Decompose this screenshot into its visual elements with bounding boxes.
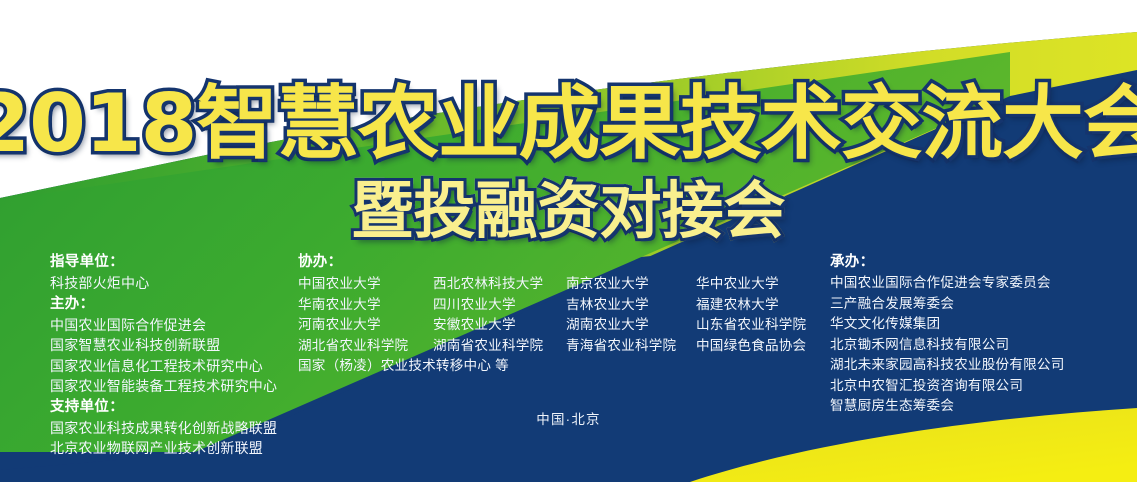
coorganizer-last-line: 国家（杨凌）农业技术转移中心 等 [298, 356, 818, 377]
coorganizer-item: 中国绿色食品协会 [696, 336, 821, 357]
host-unit-header: 主办： [50, 294, 320, 315]
coorganizer-item: 河南农业大学 [298, 315, 433, 336]
coorganizer-grid: 中国农业大学 西北农林科技大学 南京农业大学 华中农业大学 华南农业大学 四川农… [298, 274, 818, 356]
coorganizer-header: 协办： [298, 252, 818, 273]
guidance-unit-item: 科技部火炬中心 [50, 273, 320, 294]
sub-title: 暨投融资对接会 [351, 175, 785, 247]
coorganizer-item: 湖南省农业科学院 [433, 336, 566, 357]
organizer-item: 湖北未来家园高科技农业股份有限公司 [830, 355, 1130, 376]
coorganizer-item: 四川农业大学 [433, 295, 566, 316]
coorganizer-item: 安徽农业大学 [433, 315, 566, 336]
coorganizer-item: 华中农业大学 [696, 274, 821, 295]
organizer-column: 承办： 中国农业国际合作促进会专家委员会 三产融合发展筹委会 华文文化传媒集团 … [830, 252, 1130, 417]
support-unit-item: 北京农业物联网产业技术创新联盟 [50, 438, 320, 459]
coorganizer-item: 吉林农业大学 [566, 295, 696, 316]
organizer-header: 承办： [830, 252, 1130, 273]
coorganizer-item: 福建农林大学 [696, 295, 821, 316]
host-unit-item: 中国农业国际合作促进会 [50, 315, 320, 336]
coorganizer-item: 中国农业大学 [298, 274, 433, 295]
organizer-item: 中国农业国际合作促进会专家委员会 [830, 273, 1130, 294]
coorganizer-item: 湖南农业大学 [566, 315, 696, 336]
organizer-item: 北京中农智汇投资咨询有限公司 [830, 376, 1130, 397]
host-unit-item: 国家农业智能装备工程技术研究中心 [50, 376, 320, 397]
host-unit-item: 国家智慧农业科技创新联盟 [50, 335, 320, 356]
host-unit-item: 国家农业信息化工程技术研究中心 [50, 356, 320, 377]
coorganizer-item: 湖北省农业科学院 [298, 336, 433, 357]
organizer-item: 华文文化传媒集团 [830, 314, 1130, 335]
organizer-item: 三产融合发展筹委会 [830, 294, 1130, 315]
coorganizer-column: 协办： 中国农业大学 西北农林科技大学 南京农业大学 华中农业大学 华南农业大学… [298, 252, 818, 377]
conference-banner: 2018智慧农业成果技术交流大会 暨投融资对接会 指导单位： 科技部火炬中心 主… [0, 0, 1137, 482]
coorganizer-item: 华南农业大学 [298, 295, 433, 316]
coorganizer-item: 青海省农业科学院 [566, 336, 696, 357]
organizer-item: 北京锄禾网信息科技有限公司 [830, 335, 1130, 356]
coorganizer-item: 西北农林科技大学 [433, 274, 566, 295]
coorganizer-item: 山东省农业科学院 [696, 315, 821, 336]
sub-title-container: 暨投融资对接会 [0, 172, 1137, 250]
main-title: 2018智慧农业成果技术交流大会 [0, 77, 1137, 171]
guidance-unit-header: 指导单位： [50, 252, 320, 273]
main-title-container: 2018智慧农业成果技术交流大会 [0, 74, 1137, 174]
coorganizer-item: 南京农业大学 [566, 274, 696, 295]
location-label: 中国·北京 [0, 408, 1137, 428]
